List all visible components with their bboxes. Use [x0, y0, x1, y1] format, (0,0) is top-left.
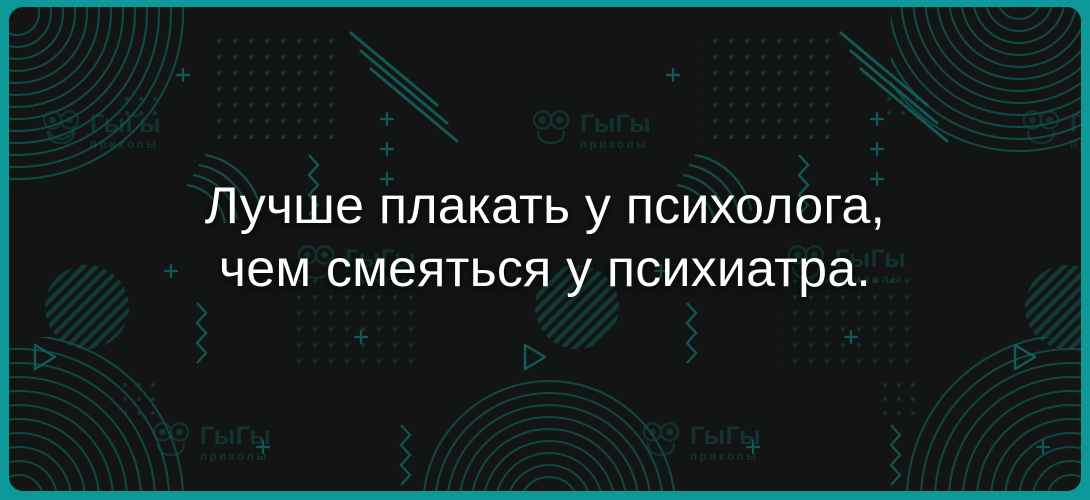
play-triangle-center — [525, 345, 545, 369]
zigzag-bottom-left — [401, 425, 410, 485]
gygy-glasses-face-icon — [529, 107, 573, 156]
watermark-text: ГыГы приколы — [200, 424, 271, 464]
play-triangle-right — [1015, 345, 1035, 369]
watermark-text: ГыГы приколы — [690, 424, 761, 464]
watermark-title: ГыГы — [690, 424, 761, 449]
watermark: ГыГы приколы — [529, 107, 651, 156]
watermark-text: ГыГы приколы — [580, 112, 651, 152]
watermark-text: ГыГы приколы — [90, 112, 161, 152]
play-triangle-left — [35, 345, 55, 369]
watermark-text: ГыГы приколы — [1070, 112, 1081, 152]
gygy-glasses-face-icon — [149, 419, 193, 468]
watermark: ГыГы приколы — [39, 107, 161, 156]
concentric-rings-top-left — [9, 7, 183, 179]
dot-grid-top-left — [211, 39, 341, 139]
meme-quote-text: Лучше плакать у психолога, чем смеяться … — [9, 175, 1081, 302]
watermark-title: ГыГы — [200, 424, 271, 449]
watermark-subtitle: приколы — [580, 140, 651, 152]
watermark: ГыГы приколы — [639, 419, 761, 468]
zigzag-mid-right — [687, 303, 696, 363]
watermark: ГыГы приколы — [149, 419, 271, 468]
meme-panel: ГыГы приколы ГыГы — [9, 7, 1081, 491]
watermark-subtitle: приколы — [1070, 140, 1081, 152]
gygy-glasses-face-icon — [639, 419, 683, 468]
diagonal-lines-top-left — [351, 33, 457, 141]
watermark-subtitle: приколы — [690, 452, 761, 464]
dot-cluster-lower-right — [883, 383, 915, 415]
dot-grid-top-right — [701, 39, 831, 139]
watermark-title: ГыГы — [90, 112, 161, 137]
watermark: ГыГы приколы — [1019, 107, 1081, 156]
gygy-glasses-face-icon — [39, 107, 83, 156]
zigzag-mid-left — [197, 303, 206, 363]
watermark-subtitle: приколы — [200, 452, 271, 464]
zigzag-bottom-right — [891, 425, 900, 485]
watermark-title: ГыГы — [1070, 112, 1081, 137]
concentric-rings-bottom-left — [9, 335, 183, 491]
dot-cluster-right — [887, 97, 919, 115]
dot-cluster-left — [125, 97, 157, 115]
gygy-glasses-face-icon — [1019, 107, 1063, 156]
concentric-rings-bottom-right — [907, 335, 1081, 491]
diagonal-lines-top-right — [841, 33, 947, 141]
meme-card: ГыГы приколы ГыГы — [0, 0, 1090, 500]
watermark-subtitle: приколы — [90, 140, 161, 152]
concentric-rings-bottom-center — [423, 381, 675, 491]
concentric-rings-top-right — [865, 7, 1081, 151]
watermark-title: ГыГы — [580, 112, 651, 137]
dot-cluster-lower-left — [123, 383, 155, 415]
